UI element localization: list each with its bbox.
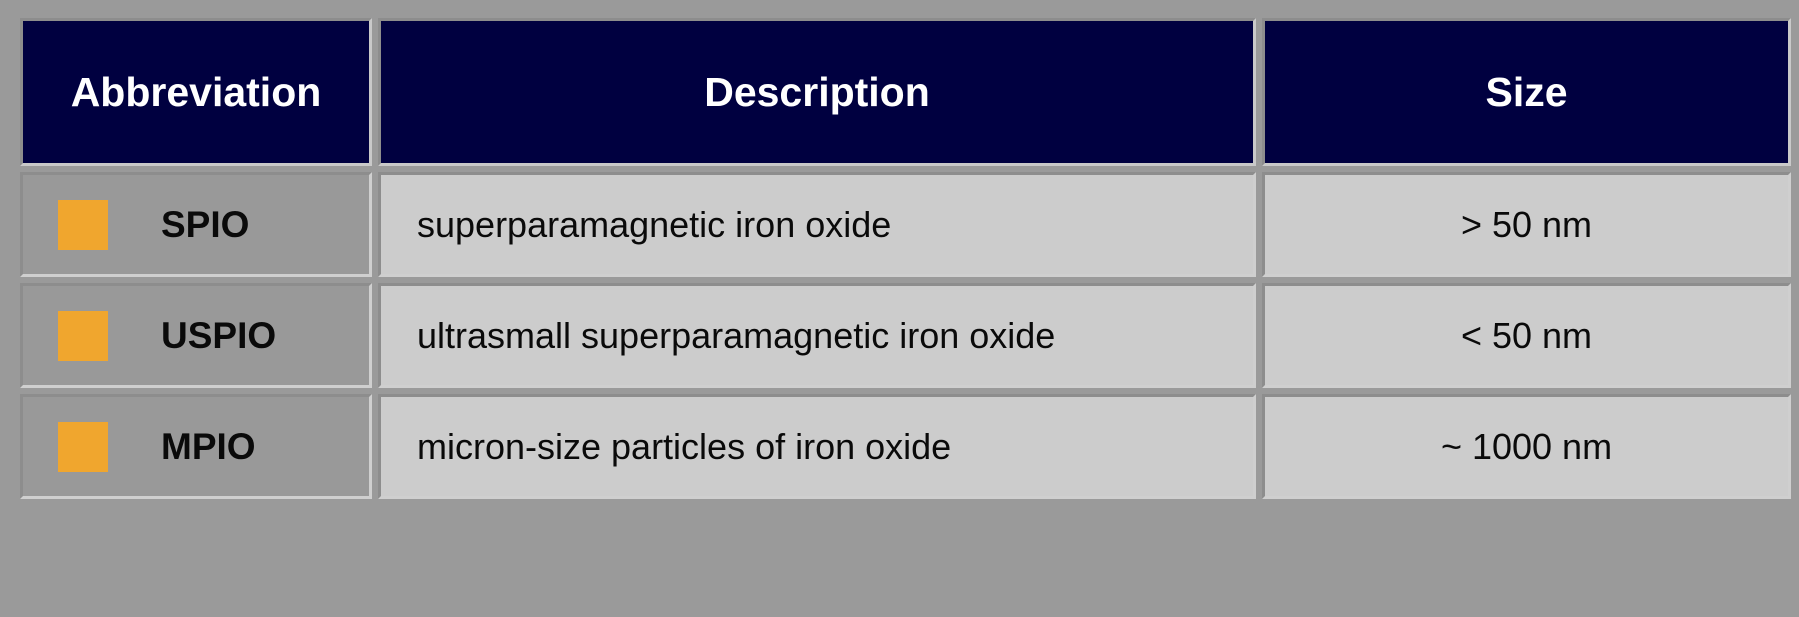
cell-abbreviation: USPIO bbox=[20, 283, 372, 388]
description-text: ultrasmall superparamagnetic iron oxide bbox=[417, 315, 1055, 356]
description-text: micron-size particles of iron oxide bbox=[417, 426, 951, 467]
abbreviation-label: SPIO bbox=[161, 204, 249, 246]
description-text: superparamagnetic iron oxide bbox=[417, 204, 891, 245]
table-header-row: Abbreviation Description Size bbox=[20, 18, 1791, 166]
cell-size: ~ 1000 nm bbox=[1262, 394, 1791, 499]
cell-description: micron-size particles of iron oxide bbox=[378, 394, 1256, 499]
abbreviation-label: USPIO bbox=[161, 315, 276, 357]
abbreviation-content: MPIO bbox=[23, 397, 369, 496]
table-header: Abbreviation Description Size bbox=[20, 18, 1791, 166]
color-swatch-icon bbox=[58, 422, 108, 472]
size-text: < 50 nm bbox=[1461, 315, 1592, 356]
size-text: > 50 nm bbox=[1461, 204, 1592, 245]
color-swatch-icon bbox=[58, 200, 108, 250]
cell-description: ultrasmall superparamagnetic iron oxide bbox=[378, 283, 1256, 388]
cell-abbreviation: SPIO bbox=[20, 172, 372, 277]
abbreviation-content: USPIO bbox=[23, 286, 369, 385]
cell-size: < 50 nm bbox=[1262, 283, 1791, 388]
cell-description: superparamagnetic iron oxide bbox=[378, 172, 1256, 277]
column-header-abbreviation: Abbreviation bbox=[20, 18, 372, 166]
size-text: ~ 1000 nm bbox=[1441, 426, 1612, 467]
legend-table-container: Abbreviation Description Size SPIO super… bbox=[0, 0, 1799, 617]
table-body: SPIO superparamagnetic iron oxide > 50 n… bbox=[20, 172, 1791, 499]
column-header-size: Size bbox=[1262, 18, 1791, 166]
abbreviation-label: MPIO bbox=[161, 426, 256, 468]
table-row: MPIO micron-size particles of iron oxide… bbox=[20, 394, 1791, 499]
color-swatch-icon bbox=[58, 311, 108, 361]
abbreviation-legend-table: Abbreviation Description Size SPIO super… bbox=[14, 12, 1797, 505]
abbreviation-content: SPIO bbox=[23, 175, 369, 274]
column-header-description: Description bbox=[378, 18, 1256, 166]
cell-size: > 50 nm bbox=[1262, 172, 1791, 277]
table-row: USPIO ultrasmall superparamagnetic iron … bbox=[20, 283, 1791, 388]
cell-abbreviation: MPIO bbox=[20, 394, 372, 499]
table-row: SPIO superparamagnetic iron oxide > 50 n… bbox=[20, 172, 1791, 277]
